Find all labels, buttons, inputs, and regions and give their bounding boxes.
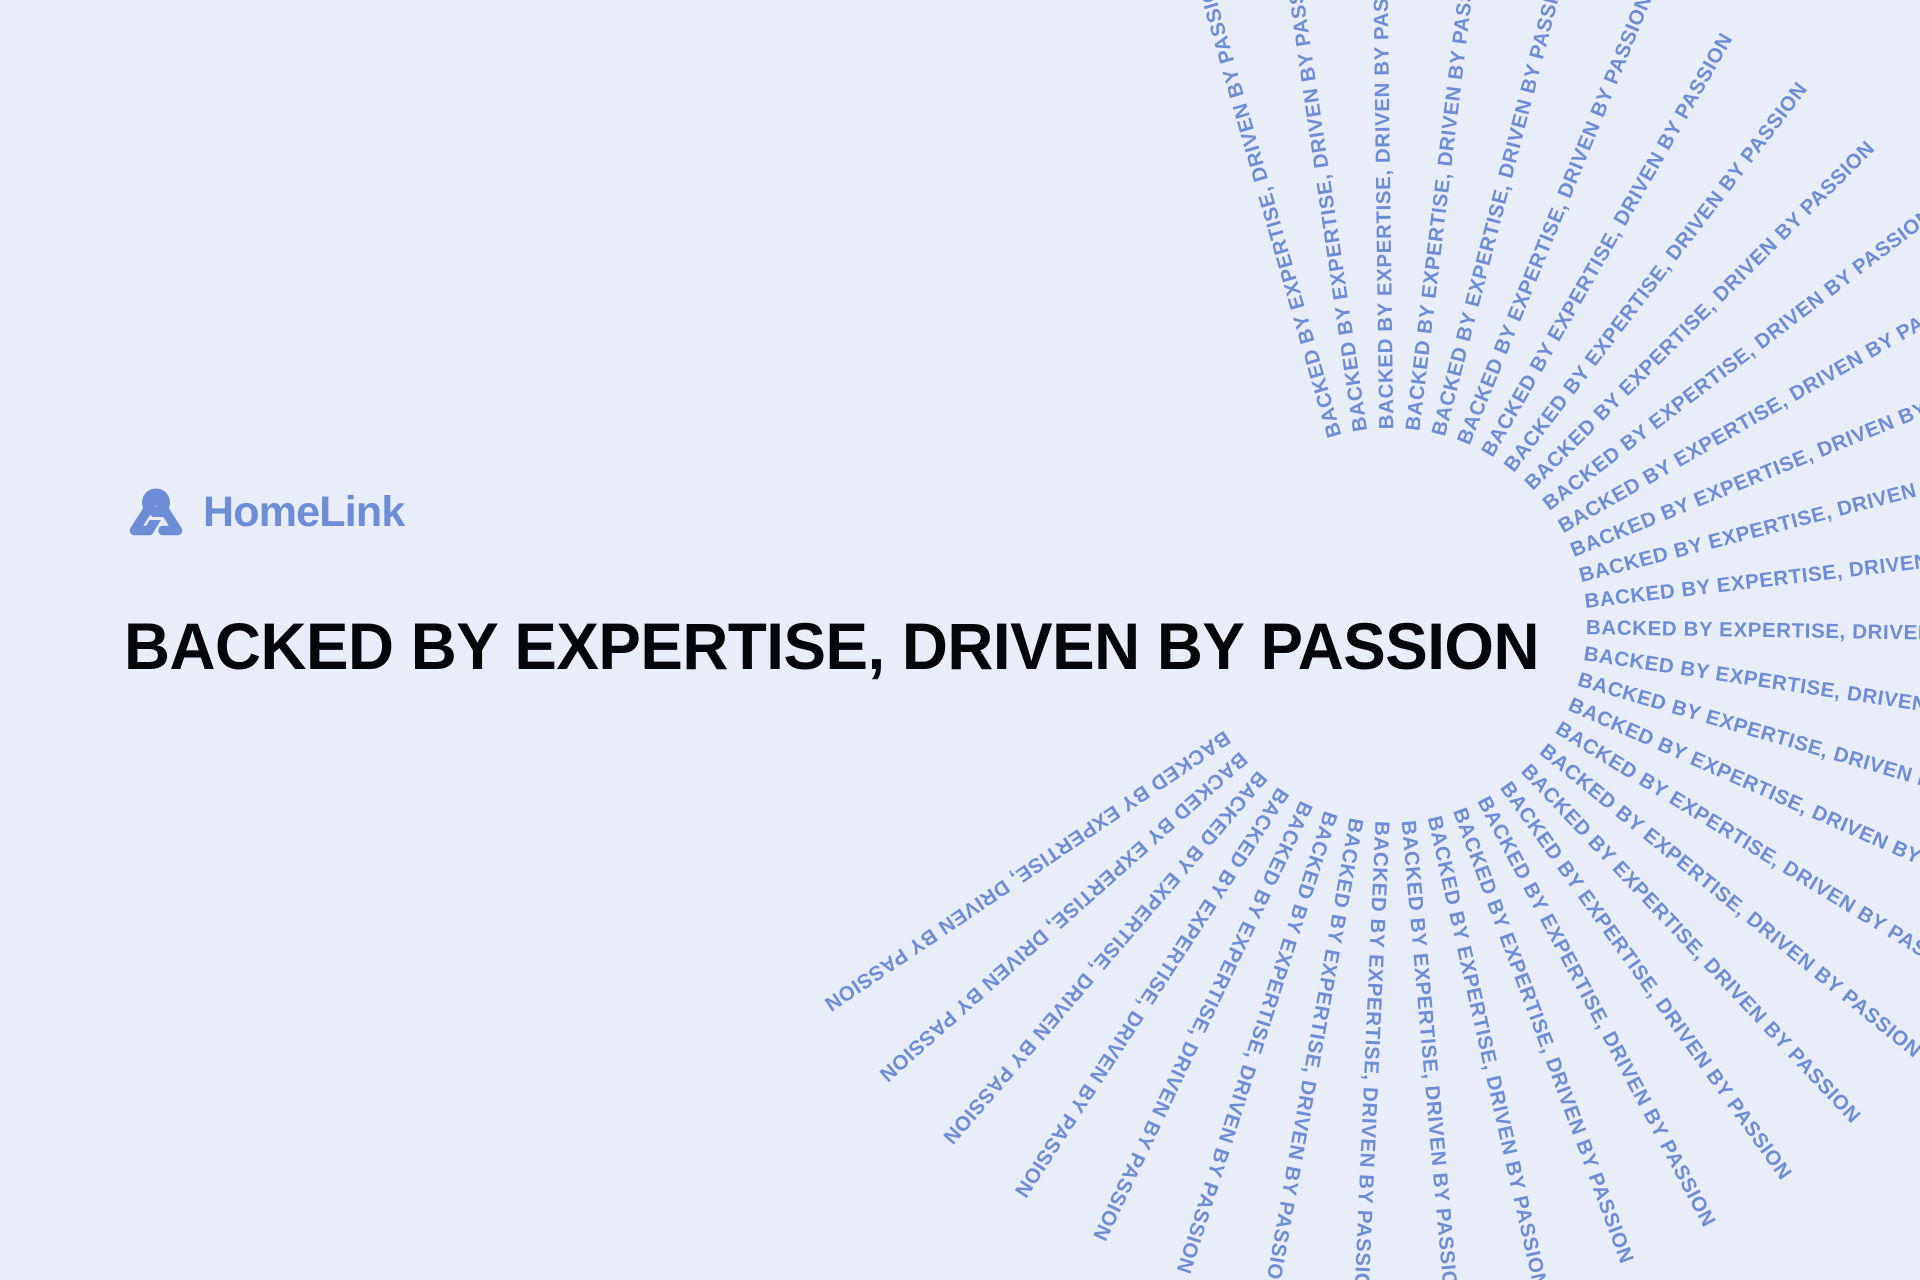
homelink-chevron-link-icon xyxy=(128,487,184,537)
sunburst-spoke-label: BACKED BY EXPERTISE, DRIVEN BY PASSION xyxy=(1088,621,1399,1244)
brand-logo[interactable]: HomeLink xyxy=(128,487,404,537)
sunburst-spoke-label: BACKED BY EXPERTISE, DRIVEN BY PASSION xyxy=(1010,620,1399,1201)
sunburst-spoke: BACKED BY EXPERTISE, DRIVEN BY PASSION xyxy=(1088,621,1399,1244)
sunburst-spoke-label: BACKED BY EXPERTISE, DRIVEN BY PASSION xyxy=(1371,0,1400,625)
sunburst-spoke: BACKED BY EXPERTISE, DRIVEN BY PASSION xyxy=(1381,30,1737,630)
sunburst-spoke: BACKED BY EXPERTISE, DRIVEN BY PASSION xyxy=(1380,624,1461,1280)
sunburst-spoke: BACKED BY EXPERTISE, DRIVEN BY PASSION xyxy=(1384,205,1920,633)
sunburst-spoke: BACKED BY EXPERTISE, DRIVEN BY PASSION xyxy=(1383,618,1864,1127)
sunburst-spoke-label: BACKED BY EXPERTISE, DRIVEN BY PASSION xyxy=(1382,619,1795,1184)
sunburst-spoke-label: BACKED BY EXPERTISE, DRIVEN BY PASSION xyxy=(1386,361,1920,635)
sunburst-spoke: BACKED BY EXPERTISE, DRIVEN BY PASSION xyxy=(1380,623,1550,1280)
sunburst-spoke: BACKED BY EXPERTISE, DRIVEN BY PASSION xyxy=(1383,138,1879,633)
sunburst-spoke-label: BACKED BY EXPERTISE, DRIVEN BY PASSION xyxy=(1193,0,1400,628)
sunburst-spoke-label: BACKED BY EXPERTISE, DRIVEN BY PASSION xyxy=(1380,622,1636,1267)
sunburst-spoke-label: BACKED BY EXPERTISE, DRIVEN BY PASSION xyxy=(1380,624,1461,1280)
sunburst-spoke: BACKED BY EXPERTISE, DRIVEN BY PASSION xyxy=(1381,0,1657,629)
sunburst-spoke-label: BACKED BY EXPERTISE, DRIVEN BY PASSION xyxy=(1380,0,1571,628)
sunburst-spoke: BACKED BY EXPERTISE, DRIVEN BY PASSION xyxy=(1380,0,1571,628)
sunburst-spoke: BACKED BY EXPERTISE, DRIVEN BY PASSION xyxy=(1380,0,1482,626)
sunburst-spoke: BACKED BY EXPERTISE, DRIVEN BY PASSION xyxy=(875,618,1397,1085)
sunburst-spoke: BACKED BY EXPERTISE, DRIVEN BY PASSION xyxy=(1260,623,1400,1280)
sunburst-spoke-label: BACKED BY EXPERTISE, DRIVEN BY PASSION xyxy=(1384,205,1920,633)
sunburst-spoke: BACKED BY EXPERTISE, DRIVEN BY PASSION xyxy=(1010,620,1399,1201)
sunburst-spoke-label: BACKED BY EXPERTISE, DRIVEN BY PASSION xyxy=(1281,0,1400,627)
sunburst-spoke-label: BACKED BY EXPERTISE, DRIVEN BY PASSION xyxy=(1381,0,1657,629)
sunburst-spoke: BACKED BY EXPERTISE, DRIVEN BY PASSION xyxy=(1193,0,1400,628)
sunburst-spoke: BACKED BY EXPERTISE, DRIVEN BY PASSION xyxy=(938,619,1397,1148)
sunburst-spoke-label: BACKED BY EXPERTISE, DRIVEN BY PASSION xyxy=(1387,447,1920,636)
sunburst-spoke-label: BACKED BY EXPERTISE, DRIVEN BY PASSION xyxy=(1383,138,1879,633)
sunburst-spoke: BACKED BY EXPERTISE, DRIVEN BY PASSION xyxy=(1172,622,1400,1276)
sunburst-spoke-label: BACKED BY EXPERTISE, DRIVEN BY PASSION xyxy=(875,618,1397,1085)
sunburst-spoke-label: BACKED BY EXPERTISE, DRIVEN BY PASSION xyxy=(1380,0,1482,626)
sunburst-spoke: BACKED BY EXPERTISE, DRIVEN BY PASSION xyxy=(1386,361,1920,635)
sunburst-spoke: BACKED BY EXPERTISE, DRIVEN BY PASSION xyxy=(1382,79,1812,631)
sunburst-spoke-label: BACKED BY EXPERTISE, DRIVEN BY PASSION xyxy=(1381,620,1718,1230)
sunburst-spoke-label: BACKED BY EXPERTISE, DRIVEN BY PASSION xyxy=(1383,618,1864,1127)
sunburst-spoke-label: BACKED BY EXPERTISE, DRIVEN BY PASSION xyxy=(1384,617,1920,1062)
sunburst-spoke: BACKED BY EXPERTISE, DRIVEN BY PASSION xyxy=(1387,447,1920,636)
sunburst-spoke: BACKED BY EXPERTISE, DRIVEN BY PASSION xyxy=(1382,619,1795,1184)
sunburst-spoke: BACKED BY EXPERTISE, DRIVEN BY PASSION xyxy=(1350,625,1401,1280)
page-title: BACKED BY EXPERTISE, DRIVEN BY PASSION xyxy=(124,612,1539,681)
sunburst-spoke-label: BACKED BY EXPERTISE, DRIVEN BY PASSION xyxy=(1172,622,1400,1276)
sunburst-spoke-label: BACKED BY EXPERTISE, DRIVEN BY PASSION xyxy=(1260,623,1400,1280)
sunburst-spoke: BACKED BY EXPERTISE, DRIVEN BY PASSION xyxy=(1281,0,1400,627)
sunburst-spoke: BACKED BY EXPERTISE, DRIVEN BY PASSION xyxy=(1380,622,1636,1267)
sunburst-spoke-label: BACKED BY EXPERTISE, DRIVEN BY PASSION xyxy=(1380,623,1550,1280)
sunburst-spoke-label: BACKED BY EXPERTISE, DRIVEN BY PASSION xyxy=(1381,30,1737,630)
sunburst-spoke: BACKED BY EXPERTISE, DRIVEN BY PASSION xyxy=(1381,620,1718,1230)
sunburst-spoke: BACKED BY EXPERTISE, DRIVEN BY PASSION xyxy=(1384,617,1920,1062)
sunburst-spoke-label: BACKED BY EXPERTISE, DRIVEN BY PASSION xyxy=(1385,280,1920,634)
brand-name: HomeLink xyxy=(203,491,404,534)
sunburst-spoke-label: BACKED BY EXPERTISE, DRIVEN BY PASSION xyxy=(1382,79,1812,631)
sunburst-spoke: BACKED BY EXPERTISE, DRIVEN BY PASSION xyxy=(1385,280,1920,634)
sunburst-spoke-label: BACKED BY EXPERTISE, DRIVEN BY PASSION xyxy=(938,619,1397,1148)
sunburst-spoke-label: BACKED BY EXPERTISE, DRIVEN BY PASSION xyxy=(1350,625,1401,1280)
sunburst-spoke: BACKED BY EXPERTISE, DRIVEN BY PASSION xyxy=(1371,0,1400,625)
promo-banner: BACKED BY EXPERTISE, DRIVEN BY PASSIONBA… xyxy=(0,0,1920,1280)
